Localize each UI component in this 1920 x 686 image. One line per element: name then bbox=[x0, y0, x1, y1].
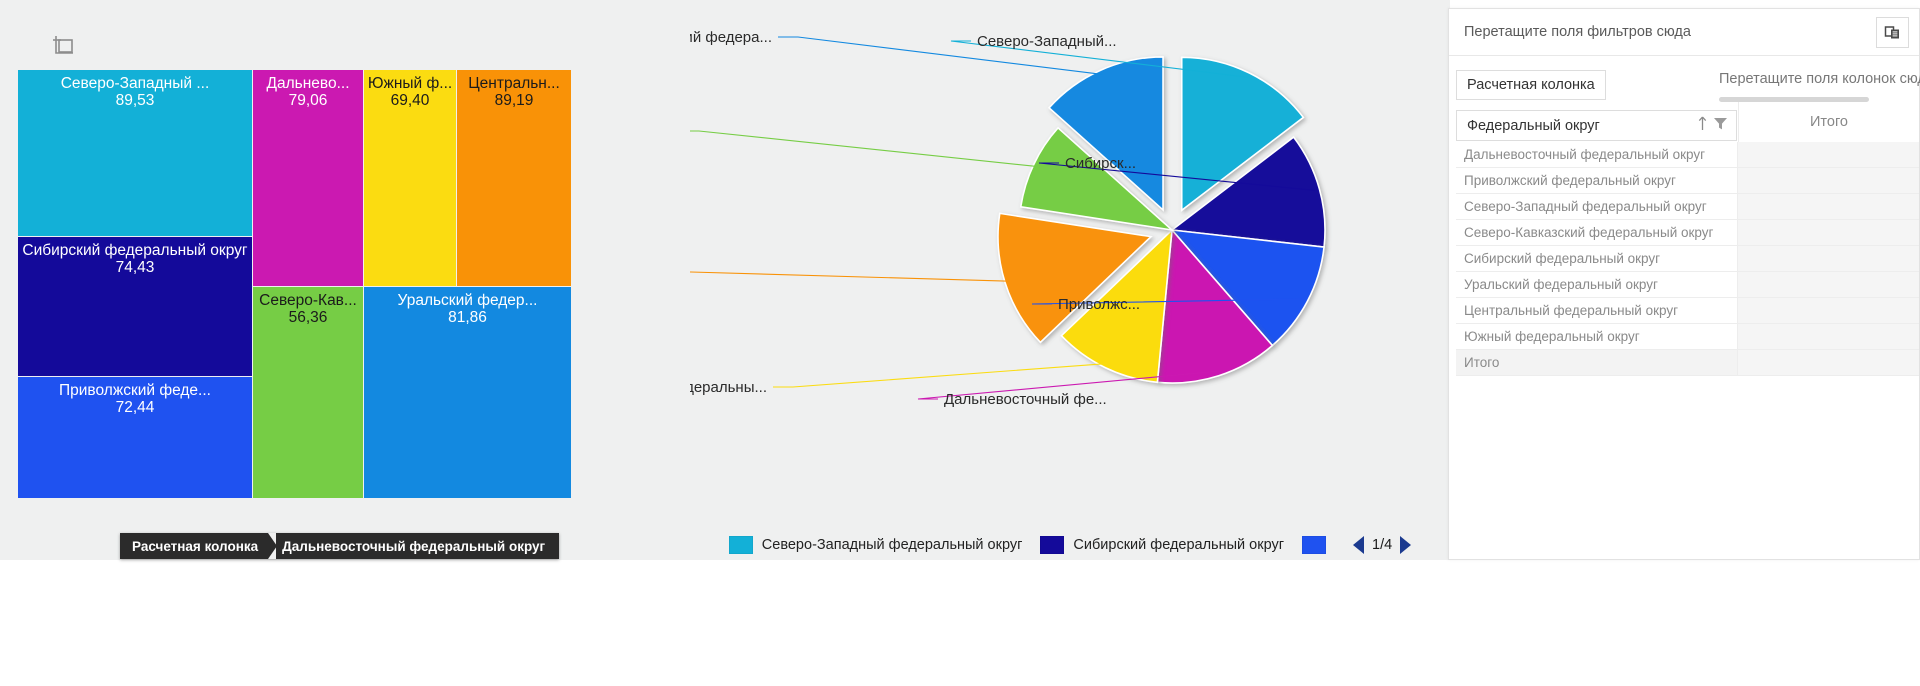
legend-label: Северо-Западный федеральный округ bbox=[762, 537, 1023, 553]
pie-chart[interactable]: Северо-Западный...Сибирск...Приволжс...Д… bbox=[690, 0, 1450, 530]
pie-slice-label: Дальневосточный фе... bbox=[944, 391, 1107, 408]
legend-item[interactable]: Сибирский федеральный округ bbox=[1040, 536, 1284, 554]
treemap-tile[interactable]: Приволжский феде...72,44 bbox=[18, 377, 252, 498]
pie-slice-label: Приволжс... bbox=[1058, 296, 1140, 313]
total-column-header: Итого bbox=[1738, 102, 1919, 142]
filter-dropzone[interactable]: Перетащите поля фильтров сюда bbox=[1449, 9, 1919, 56]
table-cell-value bbox=[1738, 168, 1919, 193]
pivot-rows: Дальневосточный федеральный округПриволж… bbox=[1456, 142, 1919, 376]
table-row[interactable]: Северо-Кавказский федеральный округ bbox=[1456, 220, 1919, 246]
pie-panel: Северо-Западный...Сибирск...Приволжс...Д… bbox=[690, 0, 1450, 560]
table-cell-name: Приволжский федеральный округ bbox=[1456, 168, 1738, 193]
treemap-tile[interactable]: Сибирский федеральный округ74,43 bbox=[18, 237, 252, 376]
legend-swatch bbox=[1040, 536, 1064, 554]
pie-leader-line bbox=[690, 272, 1009, 281]
treemap-tile[interactable]: Северо-Западный ...89,53 bbox=[18, 70, 252, 236]
treemap-tile-value: 56,36 bbox=[253, 309, 363, 327]
legend-swatch bbox=[1302, 536, 1326, 554]
tooltip-measure: Расчетная колонка bbox=[120, 533, 268, 559]
treemap-tile-value: 81,86 bbox=[364, 309, 571, 327]
table-row[interactable]: Северо-Западный федеральный округ bbox=[1456, 194, 1919, 220]
legend-prev-page-icon[interactable] bbox=[1353, 536, 1364, 554]
table-row[interactable]: Сибирский федеральный округ bbox=[1456, 246, 1919, 272]
treemap-tile-label: Северо-Кав... bbox=[253, 292, 363, 310]
treemap-tile-label: Дальнево... bbox=[253, 75, 363, 93]
treemap-tile[interactable]: Центральн...89,19 bbox=[457, 70, 571, 286]
table-cell-name: Сибирский федеральный округ bbox=[1456, 246, 1738, 271]
pie-slice-label: Сибирск... bbox=[1065, 155, 1136, 172]
copy-icon[interactable] bbox=[1876, 17, 1909, 48]
treemap-tooltip: Расчетная колонка Дальневосточный федера… bbox=[120, 533, 559, 559]
table-cell-value bbox=[1738, 298, 1919, 323]
table-cell-name: Северо-Западный федеральный округ bbox=[1456, 194, 1738, 219]
table-cell-name: Итого bbox=[1456, 350, 1738, 375]
pie-slices[interactable] bbox=[998, 57, 1325, 383]
table-cell-name: Северо-Кавказский федеральный округ bbox=[1456, 220, 1738, 245]
treemap-tile-value: 89,53 bbox=[18, 92, 252, 110]
filter-hint-label: Перетащите поля фильтров сюда bbox=[1464, 24, 1691, 40]
table-cell-name: Уральский федеральный округ bbox=[1456, 272, 1738, 297]
legend-item[interactable] bbox=[1302, 536, 1335, 554]
table-row[interactable]: Дальневосточный федеральный округ bbox=[1456, 142, 1919, 168]
measure-chip-label: Расчетная колонка bbox=[1467, 77, 1595, 93]
table-cell-name: Южный федеральный округ bbox=[1456, 324, 1738, 349]
treemap-tile-value: 79,06 bbox=[253, 92, 363, 110]
treemap-tile-value: 74,43 bbox=[18, 259, 252, 277]
legend-page-count: 1/4 bbox=[1372, 537, 1392, 553]
treemap-chart[interactable]: Северо-Западный ...89,53Сибирский федера… bbox=[18, 70, 671, 498]
table-cell-value bbox=[1738, 194, 1919, 219]
measure-chip-calculated-column[interactable]: Расчетная колонка bbox=[1456, 70, 1606, 100]
treemap-tile-value: 89,19 bbox=[457, 92, 571, 110]
treemap-toolbar bbox=[0, 0, 690, 55]
table-row[interactable]: Уральский федеральный округ bbox=[1456, 272, 1919, 298]
tooltip-category: Дальневосточный федеральный округ bbox=[276, 533, 559, 559]
pie-leader-line bbox=[690, 131, 1038, 167]
table-row[interactable]: Итого bbox=[1456, 350, 1919, 376]
treemap-tile-label: Приволжский феде... bbox=[18, 382, 252, 400]
treemap-panel: Северо-Западный ...89,53Сибирский федера… bbox=[0, 0, 690, 560]
pie-slice-label: Южный федеральны... bbox=[690, 379, 767, 396]
table-cell-value bbox=[1738, 324, 1919, 349]
sort-asc-icon[interactable] bbox=[1697, 116, 1708, 135]
tooltip-arrow-icon bbox=[268, 533, 277, 559]
treemap-tile-label: Северо-Западный ... bbox=[18, 75, 252, 93]
columns-hint-label: Перетащите поля колонок сюда bbox=[1719, 71, 1920, 87]
pie-slice-label: Северо-Западный... bbox=[977, 33, 1117, 50]
pie-leader-line bbox=[773, 364, 1107, 387]
legend-swatch bbox=[729, 536, 753, 554]
pie-legend[interactable]: Северо-Западный федеральный округСибирск… bbox=[690, 530, 1450, 560]
treemap-tile-label: Центральн... bbox=[457, 75, 571, 93]
treemap-tile[interactable]: Северо-Кав...56,36 bbox=[253, 287, 363, 498]
treemap-tile-label: Уральский федер... bbox=[364, 292, 571, 310]
treemap-tile-value: 72,44 bbox=[18, 399, 252, 417]
row-field-chip-label: Федеральный округ bbox=[1467, 118, 1600, 134]
treemap-tile-value: 69,40 bbox=[364, 92, 456, 110]
table-row[interactable]: Южный федеральный округ bbox=[1456, 324, 1919, 350]
row-field-chip-federal-district[interactable]: Федеральный округ bbox=[1456, 110, 1737, 141]
treemap-tile[interactable]: Дальнево...79,06 bbox=[253, 70, 363, 286]
table-cell-value bbox=[1738, 220, 1919, 245]
table-cell-name: Дальневосточный федеральный округ bbox=[1456, 142, 1738, 167]
treemap-tile-label: Сибирский федеральный округ bbox=[18, 242, 252, 260]
treemap-tile-label: Южный ф... bbox=[364, 75, 456, 93]
legend-label: Сибирский федеральный округ bbox=[1073, 537, 1284, 553]
table-row[interactable]: Приволжский федеральный округ bbox=[1456, 168, 1919, 194]
table-cell-value bbox=[1738, 272, 1919, 297]
legend-item[interactable]: Северо-Западный федеральный округ bbox=[729, 536, 1023, 554]
crop-icon[interactable] bbox=[50, 33, 76, 59]
treemap-tile[interactable]: Южный ф...69,40 bbox=[364, 70, 456, 286]
pivot-panel: Перетащите поля фильтров сюда Расчетная … bbox=[1448, 8, 1920, 560]
table-cell-value bbox=[1738, 246, 1919, 271]
filter-icon[interactable] bbox=[1713, 116, 1728, 135]
table-cell-value bbox=[1738, 350, 1919, 375]
table-cell-name: Центральный федеральный округ bbox=[1456, 298, 1738, 323]
table-cell-value bbox=[1738, 142, 1919, 167]
legend-next-page-icon[interactable] bbox=[1400, 536, 1411, 554]
treemap-tile[interactable]: Уральский федер...81,86 bbox=[364, 287, 571, 498]
pie-slice-label: Уральский федера... bbox=[690, 29, 772, 46]
table-row[interactable]: Центральный федеральный округ bbox=[1456, 298, 1919, 324]
